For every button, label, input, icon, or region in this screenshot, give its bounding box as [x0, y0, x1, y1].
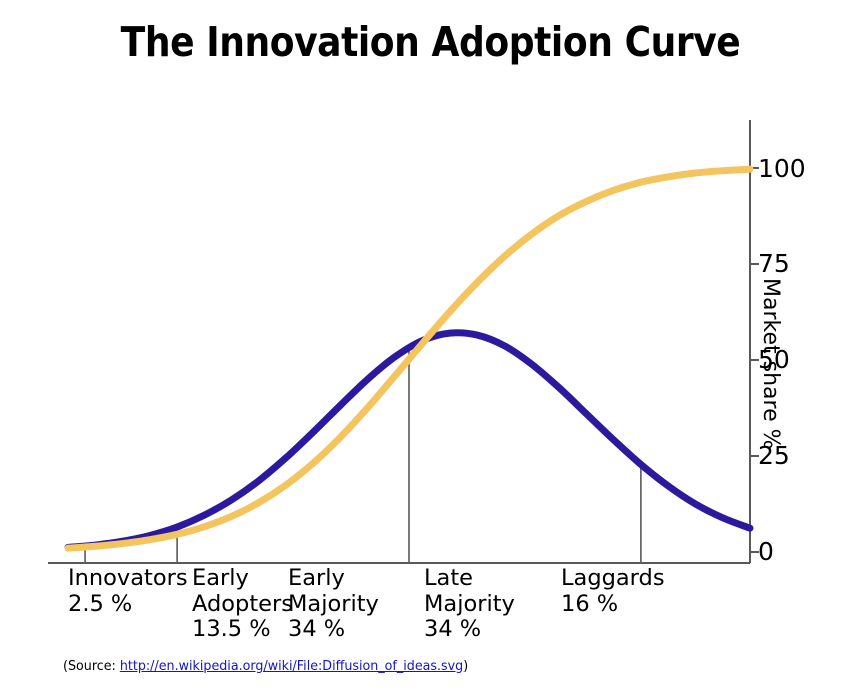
y-axis-label: Market share % — [758, 278, 783, 450]
category-name: Innovators — [68, 566, 188, 592]
category-percent: 13.5 % — [192, 617, 293, 643]
category-label-laggards: Laggards 16 % — [561, 566, 665, 617]
category-name-line2: Adopters — [192, 592, 293, 618]
category-percent: 34 % — [288, 617, 379, 643]
category-name-line2: Majority — [288, 592, 379, 618]
category-label-early-majority: Early Majority 34 % — [288, 566, 379, 643]
category-percent: 16 % — [561, 592, 665, 618]
category-label-innovators: Innovators 2.5 % — [68, 566, 188, 617]
category-label-early-adopters: Early Adopters 13.5 % — [192, 566, 293, 643]
ytick-label-75: 75 — [758, 251, 790, 276]
source-prefix: (Source: — [63, 658, 120, 674]
innovation-adoption-chart: 100 75 50 25 0 Market share % Innovators… — [0, 0, 861, 660]
chart-plot-svg — [0, 0, 861, 660]
chart-axes — [48, 120, 759, 563]
category-name-line1: Early — [288, 566, 379, 592]
slide-canvas: The Innovation Adoption Curve 100 75 50 … — [0, 0, 861, 692]
category-percent: 2.5 % — [68, 592, 188, 618]
source-suffix: ) — [463, 658, 468, 674]
category-name-line2: Majority — [424, 592, 515, 618]
category-name: Laggards — [561, 566, 665, 592]
category-name-line1: Late — [424, 566, 515, 592]
source-caption: (Source: http://en.wikipedia.org/wiki/Fi… — [63, 658, 468, 674]
category-label-late-majority: Late Majority 34 % — [424, 566, 515, 643]
category-percent: 34 % — [424, 617, 515, 643]
category-name-line1: Early — [192, 566, 293, 592]
ytick-label-100: 100 — [758, 156, 806, 181]
ytick-label-0: 0 — [758, 539, 774, 564]
source-link[interactable]: http://en.wikipedia.org/wiki/File:Diffus… — [120, 658, 463, 674]
